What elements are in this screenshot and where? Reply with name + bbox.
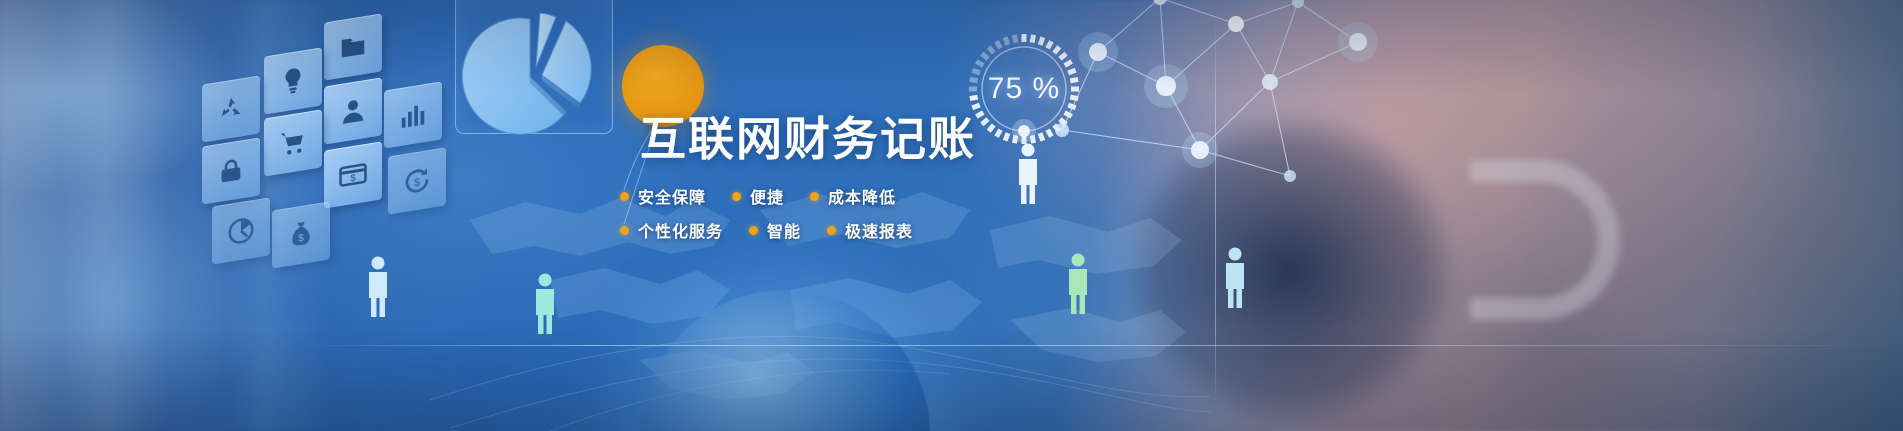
icon-cube-grid: $ $ $: [160, 0, 430, 240]
lock-icon: [202, 137, 260, 204]
feature-item[interactable]: 极速报表: [827, 218, 913, 242]
feature-label: 个性化服务: [638, 218, 723, 242]
money-bag-icon: $: [272, 201, 330, 268]
person-figure: [1222, 246, 1248, 308]
person-figure: [532, 272, 558, 334]
person-icon: [324, 77, 382, 144]
bullet-dot-icon: [732, 192, 741, 201]
pie-chart-panel: [455, 0, 613, 134]
feature-label: 便捷: [750, 184, 784, 208]
pie-clock-icon: [212, 197, 270, 264]
feature-label: 安全保障: [638, 184, 706, 208]
bullet-dot-icon: [749, 226, 758, 235]
person-figure: [1065, 252, 1091, 314]
svg-text:$: $: [350, 173, 356, 185]
feature-item[interactable]: 便捷: [732, 184, 784, 208]
bullet-dot-icon: [620, 192, 629, 201]
page-title: 互联网财务记账: [640, 103, 976, 169]
bullet-dot-icon: [810, 192, 819, 201]
recycle-icon: [202, 75, 260, 142]
person-figure: [365, 255, 391, 317]
lightbulb-icon: [264, 47, 322, 114]
svg-text:$: $: [298, 233, 304, 245]
vertical-rule: [1215, 20, 1216, 410]
bar-chart-icon: [384, 81, 442, 148]
shopping-cart-icon: [264, 109, 322, 176]
feature-item[interactable]: 成本降低: [810, 184, 896, 208]
network-node-graph: [1040, 0, 1400, 220]
feature-item[interactable]: 个性化服务: [620, 218, 723, 242]
coffee-mug-handle: [1470, 160, 1620, 320]
bullet-dot-icon: [827, 226, 836, 235]
feature-label: 极速报表: [845, 218, 913, 242]
feature-row-2: 个性化服务 智能 极速报表: [620, 218, 939, 242]
banner-root: $ $ $: [0, 0, 1903, 431]
folder-icon: [324, 13, 382, 80]
svg-text:$: $: [414, 176, 421, 189]
dollar-refresh-icon: $: [388, 147, 446, 214]
feature-row-1: 安全保障 便捷 成本降低: [620, 184, 922, 208]
feature-label: 智能: [767, 218, 801, 242]
feature-label: 成本降低: [828, 184, 896, 208]
horizontal-rule: [300, 345, 1900, 346]
bullet-dot-icon: [620, 226, 629, 235]
content-block: 互联网财务记账 安全保障 便捷 成本降低 个性化服务 智能: [600, 0, 1020, 431]
credit-card-icon: $: [324, 141, 382, 208]
pie-chart: [456, 0, 614, 135]
feature-item[interactable]: 安全保障: [620, 184, 706, 208]
feature-item[interactable]: 智能: [749, 218, 801, 242]
